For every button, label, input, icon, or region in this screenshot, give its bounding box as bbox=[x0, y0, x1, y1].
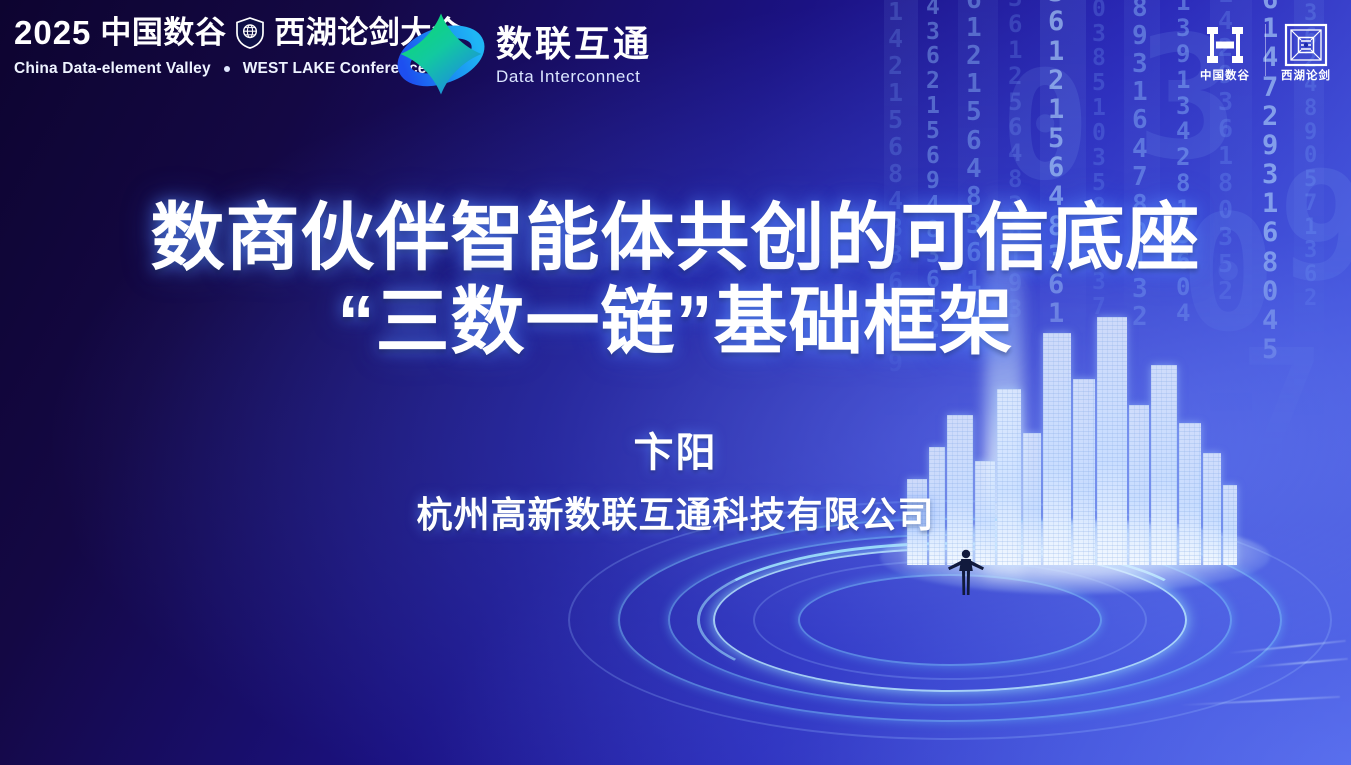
bullet-separator-icon bbox=[224, 66, 230, 72]
light-streak bbox=[1228, 640, 1346, 654]
presentation-slide: 03097 3 6 1 4 2 1 5 6 8 4 8 3 6 1 0 91 4… bbox=[0, 0, 1351, 765]
shield-globe-icon bbox=[235, 17, 265, 49]
four-point-star-ring-logo bbox=[395, 8, 487, 100]
person-silhouette-icon bbox=[946, 548, 986, 596]
conference-name-en-part1: China Data-element Valley bbox=[14, 60, 211, 78]
partner-mark-caption: 西湖论剑 bbox=[1275, 71, 1337, 83]
conference-name-cn-part1: 中国数谷 bbox=[100, 17, 226, 48]
speaker-name: 卞阳 bbox=[0, 428, 1351, 478]
light-streak bbox=[1180, 696, 1340, 706]
sponsor-text: 数联互通 Data Interconnect bbox=[496, 21, 652, 87]
partner-mark-caption: 中国数谷 bbox=[1194, 71, 1256, 83]
speaker-organization: 杭州高新数联互通科技有限公司 bbox=[0, 486, 1351, 538]
sponsor-name-cn: 数联互通 bbox=[496, 25, 652, 63]
conference-year: 2025 bbox=[14, 16, 91, 49]
title-line-1: 数商伙伴智能体共创的可信底座 bbox=[0, 196, 1351, 280]
partner-divider bbox=[1265, 24, 1266, 76]
partner-marks: 中国数谷 西湖论剑 bbox=[1194, 22, 1337, 83]
china-data-valley-monogram-icon bbox=[1194, 22, 1256, 68]
sponsor-name-en: Data Interconnect bbox=[496, 67, 652, 87]
speaker-info: 卞阳 杭州高新数联互通科技有限公司 bbox=[0, 428, 1351, 538]
title-line-2: “三数一链”基础框架 bbox=[0, 280, 1351, 364]
partner-mark-china-data-valley: 中国数谷 bbox=[1194, 22, 1256, 83]
slide-title: 数商伙伴智能体共创的可信底座 “三数一链”基础框架 bbox=[0, 196, 1351, 363]
light-streak bbox=[1252, 658, 1348, 668]
sponsor-logo-block: 数联互通 Data Interconnect bbox=[395, 8, 652, 100]
partner-mark-west-lake: 西湖论剑 bbox=[1275, 22, 1337, 83]
slide-header: 2025 中国数谷 西湖论剑大会 China Data-element Vall… bbox=[0, 0, 1351, 108]
west-lake-seal-icon bbox=[1275, 22, 1337, 68]
